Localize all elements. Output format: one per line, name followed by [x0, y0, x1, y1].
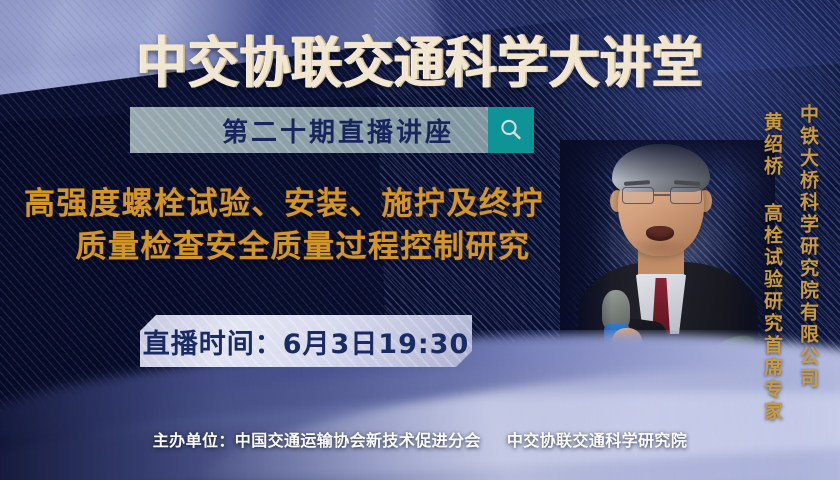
- search-icon: [498, 117, 524, 143]
- lecture-topic-line-2: 质量检查安全质量过程控制研究: [18, 226, 588, 269]
- organizer-name-1: 中国交通运输协会新技术促进分会: [235, 427, 481, 451]
- search-button[interactable]: [488, 107, 534, 153]
- episode-banner: 第二十期直播讲座: [130, 107, 534, 153]
- episode-label: 第二十期直播讲座: [130, 107, 476, 153]
- glasses-bridge: [654, 194, 670, 196]
- lecture-topic: 高强度螺栓试验、安装、施拧及终拧 质量检查安全质量过程控制研究: [18, 183, 588, 269]
- lecture-topic-line-1: 高强度螺栓试验、安装、施拧及终拧: [18, 183, 588, 226]
- live-stream-poster: 中交协联交通科学大讲堂 第二十期直播讲座 高强度螺栓试验、安装、施拧及终拧 质量…: [0, 0, 840, 480]
- broadcast-time-text: 直播时间：6月3日19:30: [143, 322, 470, 361]
- speaker-organization: 中铁大桥科学研究院有限公司: [795, 104, 822, 390]
- speaker-glasses: [622, 187, 702, 204]
- broadcast-time-badge: 直播时间：6月3日19:30: [140, 315, 472, 367]
- speaker-name-role: 黄绍桥 高栓试验研究首席专家: [759, 112, 786, 423]
- page-title: 中交协联交通科学大讲堂: [34, 18, 807, 98]
- organizer-label: 主办单位：: [153, 427, 235, 451]
- speaker-mouth: [646, 226, 674, 241]
- organizer-name-2: 中交协联交通科学研究院: [507, 427, 687, 451]
- organizer-footer: 主办单位： 中国交通运输协会新技术促进分会 中交协联交通科学研究院: [0, 424, 840, 454]
- glasses-lens-right: [670, 187, 702, 204]
- glasses-lens-left: [622, 187, 654, 204]
